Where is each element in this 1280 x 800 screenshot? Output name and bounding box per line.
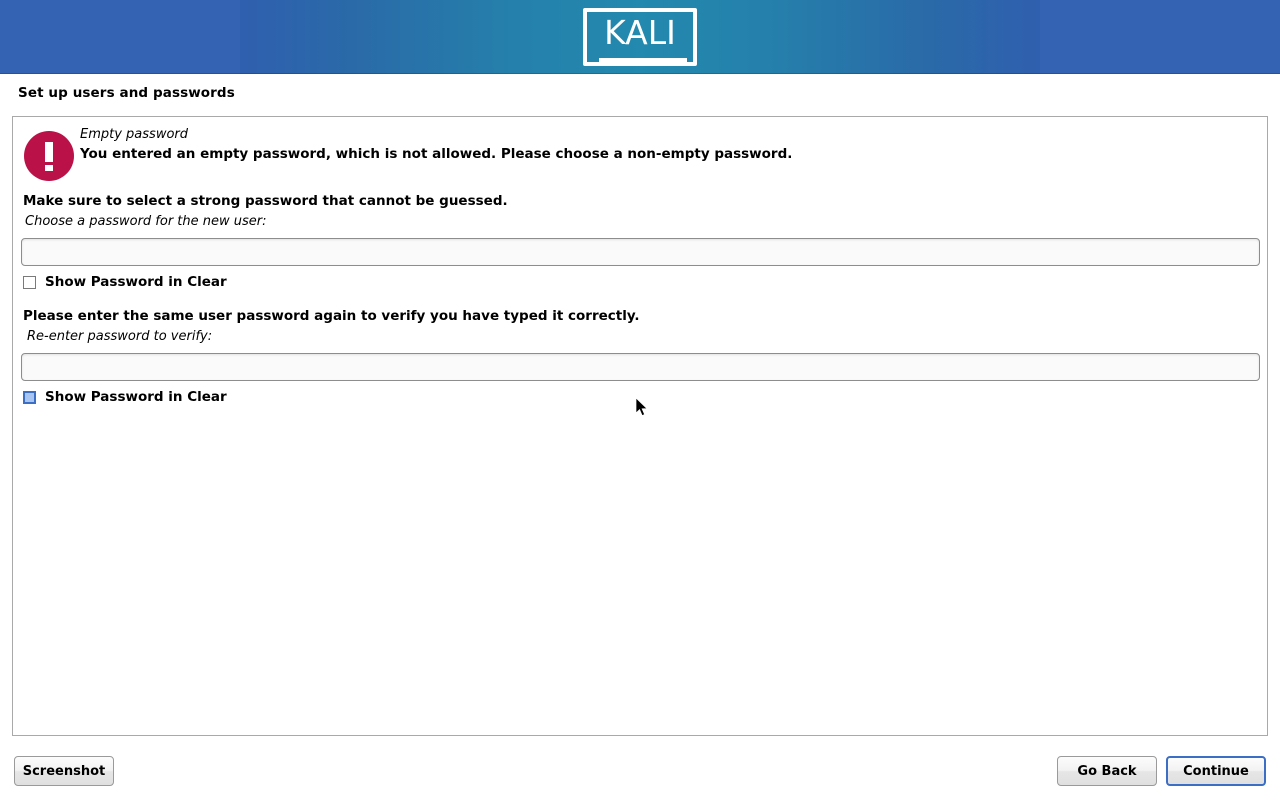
alert-title: Empty password <box>80 127 188 142</box>
screenshot-button[interactable]: Screenshot <box>14 756 114 786</box>
error-exclamation-icon <box>24 131 74 181</box>
go-back-button[interactable]: Go Back <box>1057 756 1157 786</box>
alert-message: You entered an empty password, which is … <box>80 146 792 162</box>
installer-window: KALI Set up users and passwords Empty pa… <box>0 0 1280 800</box>
exclamation-dot <box>45 165 53 171</box>
kali-logo-text: KALI <box>583 13 697 53</box>
banner-divider <box>0 73 1280 74</box>
kali-logo: KALI <box>583 8 697 66</box>
show-password-checkbox-1[interactable] <box>23 276 36 289</box>
verify-field-label: Re-enter password to verify: <box>27 329 212 344</box>
continue-button[interactable]: Continue <box>1166 756 1266 786</box>
page-title: Set up users and passwords <box>18 85 235 101</box>
password-field-label: Choose a password for the new user: <box>25 214 267 229</box>
kali-logo-foot <box>599 58 687 62</box>
header-banner: KALI <box>0 0 1280 74</box>
verify-password-input[interactable] <box>21 353 1260 381</box>
alert-block: Empty password You entered an empty pass… <box>13 117 1267 187</box>
strong-password-note: Make sure to select a strong password th… <box>23 193 508 209</box>
show-password-label-2: Show Password in Clear <box>45 389 227 405</box>
show-password-label-1: Show Password in Clear <box>45 274 227 290</box>
content-panel: Empty password You entered an empty pass… <box>12 116 1268 736</box>
password-input[interactable] <box>21 238 1260 266</box>
exclamation-bar <box>45 142 53 162</box>
show-password-checkbox-2[interactable] <box>23 391 36 404</box>
verify-password-note: Please enter the same user password agai… <box>23 308 640 324</box>
